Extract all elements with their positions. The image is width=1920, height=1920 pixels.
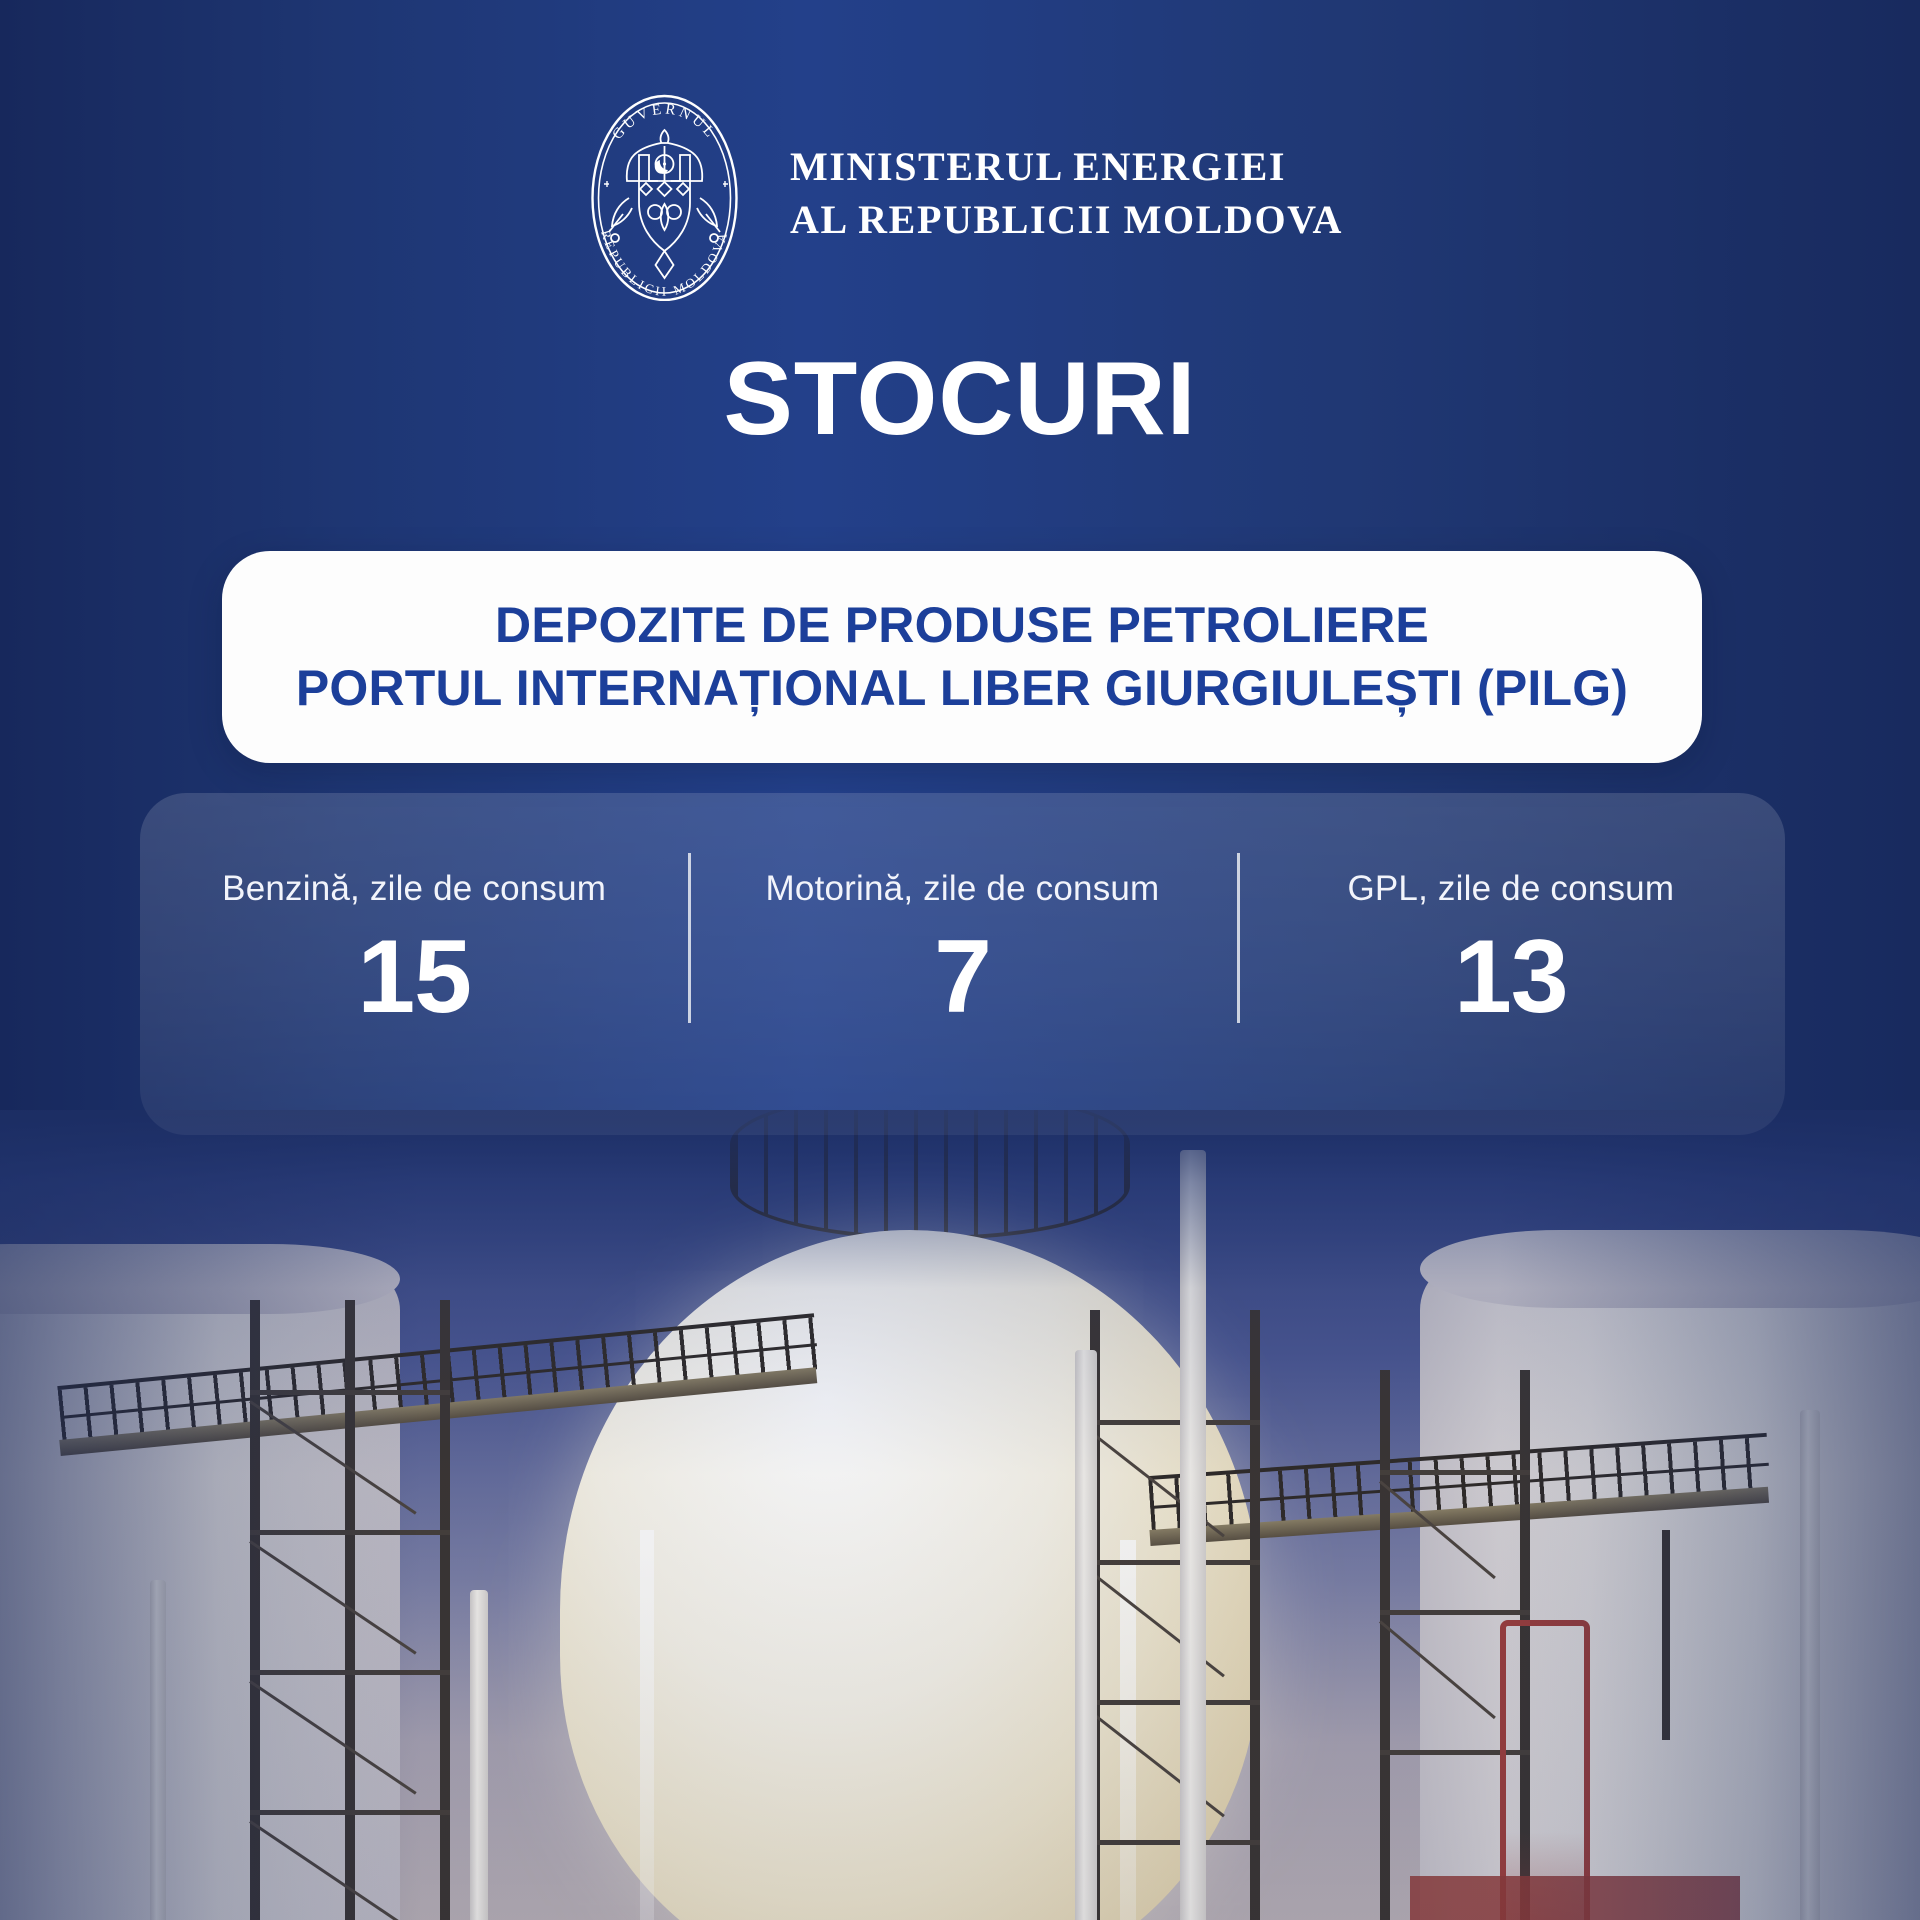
infographic-poster: GUVERNUL REPUBLICII MOLDOVA [0,0,1920,1920]
poster-content: GUVERNUL REPUBLICII MOLDOVA [0,0,1920,1920]
ministry-name-line2: AL REPUBLICII MOLDOVA [790,194,1343,247]
location-card-line1: DEPOZITE DE PRODUSE PETROLIERE [495,594,1429,657]
stat-benzina: Benzină, zile de consum 15 [140,793,688,1032]
stat-gpl-value: 13 [1237,923,1785,1032]
stat-gpl: GPL, zile de consum 13 [1237,793,1785,1032]
location-card: DEPOZITE DE PRODUSE PETROLIERE PORTUL IN… [222,551,1702,763]
svg-text:GUVERNUL: GUVERNUL [610,101,720,142]
stat-motorina: Motorină, zile de consum 7 [688,793,1236,1032]
location-card-line2: PORTUL INTERNAȚIONAL LIBER GIURGIULEȘTI … [296,657,1628,720]
stat-motorina-value: 7 [688,923,1236,1032]
stat-benzina-label: Benzină, zile de consum [140,869,688,909]
stat-benzina-value: 15 [140,923,688,1032]
stat-motorina-label: Motorină, zile de consum [688,869,1236,909]
ministry-name-line1: MINISTERUL ENERGIEI [790,141,1343,194]
ministry-header: GUVERNUL REPUBLICII MOLDOVA [0,86,1920,301]
moldova-state-crest-icon: GUVERNUL REPUBLICII MOLDOVA [577,86,752,301]
ministry-name: MINISTERUL ENERGIEI AL REPUBLICII MOLDOV… [790,141,1343,247]
stats-panel: Benzină, zile de consum 15 Motorină, zil… [140,793,1785,1135]
svg-text:REPUBLICII MOLDOVA: REPUBLICII MOLDOVA [598,228,731,299]
page-title: STOCURI [0,340,1920,459]
stat-gpl-label: GPL, zile de consum [1237,869,1785,909]
